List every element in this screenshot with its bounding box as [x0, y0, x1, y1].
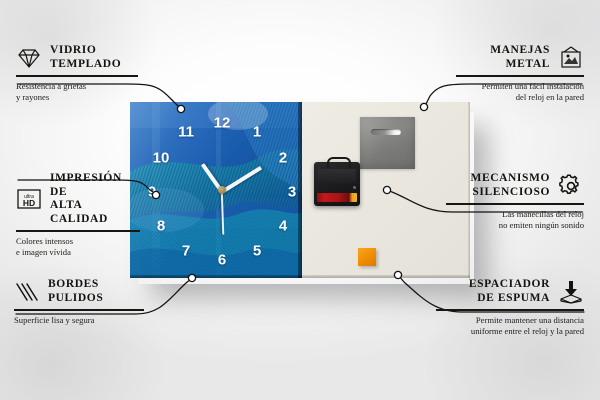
- clock-numeral-11: 11: [178, 125, 194, 140]
- callout-rule: [446, 203, 584, 204]
- clock-numeral-4: 4: [279, 219, 287, 234]
- clock-bottom-edge: [130, 275, 302, 278]
- callout-sub-line2: y rayones: [16, 92, 138, 103]
- clock-numeral-5: 5: [253, 244, 261, 259]
- movement-screw-dot: [353, 186, 356, 189]
- callout-title-line2: METAL: [490, 58, 550, 72]
- callout-mecanismo-silencioso[interactable]: MECANISMO SILENCIOSO Las manecillas del …: [446, 172, 584, 231]
- callout-sub-line2: e imagen vívida: [16, 247, 140, 258]
- diamond-icon: [16, 46, 42, 70]
- svg-text:HD: HD: [23, 198, 35, 208]
- quartz-movement-box: [314, 162, 360, 206]
- callout-rule: [16, 230, 140, 231]
- clock-numeral-1: 1: [253, 125, 261, 140]
- callout-title-line1: MECANISMO: [470, 172, 550, 186]
- callout-title-line2: TEMPLADO: [50, 58, 121, 72]
- callout-title-line1: VIDRIO: [50, 44, 121, 58]
- callout-impresion-alta-calidad[interactable]: ultra HD IMPRESIÓN DE ALTA CALIDAD Color…: [16, 172, 140, 258]
- callout-header: VIDRIO TEMPLADO: [16, 44, 138, 71]
- clock-numeral-10: 10: [153, 151, 170, 166]
- callout-title-line1: MANEJAS: [490, 44, 550, 58]
- callout-bordes-pulidos[interactable]: BORDES PULIDOS Superficie lisa y segura: [14, 278, 144, 326]
- callout-rule: [16, 75, 138, 76]
- callout-sub-line1: Permiten una fácil instalación: [456, 81, 584, 92]
- clock-front-face: 12 1 2 3 4 5 6 7 8 9 10 11: [130, 102, 302, 278]
- callout-rule: [436, 309, 584, 310]
- callout-sub-line2: uniforme entre el reloj y la pared: [436, 326, 584, 337]
- clock-numeral-9: 9: [148, 185, 156, 200]
- callout-title-line2: DE ESPUMA: [469, 292, 550, 306]
- callout-manejas-metal[interactable]: MANEJAS METAL Permiten una fácil instala…: [456, 44, 584, 103]
- callout-title-line1: ESPACIADOR: [469, 278, 550, 292]
- callout-title-line2: SILENCIOSO: [470, 186, 550, 200]
- callout-header: MANEJAS METAL: [456, 44, 584, 71]
- wall-mount-frame-icon: [558, 46, 584, 70]
- clock-numeral-8: 8: [157, 219, 165, 234]
- metal-hanger-plate: [360, 117, 415, 169]
- movement-hanging-loop: [327, 157, 351, 168]
- callout-header: BORDES PULIDOS: [14, 278, 144, 305]
- callout-sub-line1: Superficie lisa y segura: [14, 315, 144, 326]
- clock-back-panel: [302, 102, 470, 278]
- callout-sub-line2: no emiten ningún sonido: [446, 220, 584, 231]
- clock-numeral-3: 3: [288, 185, 296, 200]
- product-composite: 12 1 2 3 4 5 6 7 8 9 10 11: [130, 102, 470, 278]
- callout-rule: [14, 309, 144, 310]
- foam-spacer-square: [358, 248, 376, 266]
- gear-icon: [558, 174, 584, 198]
- callout-espaciador-de-espuma[interactable]: ESPACIADOR DE ESPUMA Permite mantener un…: [436, 278, 584, 337]
- callout-sub-line1: Resistencia a grietas: [16, 81, 138, 92]
- movement-battery-strip: [317, 193, 357, 202]
- callout-rule: [456, 75, 584, 76]
- clock-numeral-2: 2: [279, 151, 287, 166]
- ultra-hd-icon: ultra HD: [16, 187, 42, 211]
- infographic-canvas: 12 1 2 3 4 5 6 7 8 9 10 11: [0, 0, 600, 400]
- callout-sub-line1: Permite mantener una distancia: [436, 315, 584, 326]
- polished-edges-icon: [14, 280, 40, 304]
- callout-title-line2: ALTA CALIDAD: [50, 199, 140, 226]
- callout-title-line1: IMPRESIÓN DE: [50, 172, 140, 199]
- hanger-sheen: [360, 117, 415, 169]
- foam-spacer-arrow-icon: [558, 280, 584, 304]
- clock-numeral-7: 7: [182, 244, 190, 259]
- callout-sub-line2: del reloj en la pared: [456, 92, 584, 103]
- callout-header: ESPACIADOR DE ESPUMA: [436, 278, 584, 305]
- callout-sub-line1: Las manecillas del reloj: [446, 209, 584, 220]
- callout-title-line1: BORDES: [48, 278, 103, 292]
- callout-vidrio-templado[interactable]: VIDRIO TEMPLADO Resistencia a grietas y …: [16, 44, 138, 103]
- callout-header: MECANISMO SILENCIOSO: [446, 172, 584, 199]
- movement-body-panel: [318, 169, 356, 183]
- callout-title-line2: PULIDOS: [48, 292, 103, 306]
- callout-header: ultra HD IMPRESIÓN DE ALTA CALIDAD: [16, 172, 140, 226]
- clock-center-cap: [218, 186, 226, 194]
- clock-numeral-12: 12: [214, 116, 231, 131]
- callout-sub-line1: Colores intensos: [16, 236, 140, 247]
- clock-numeral-6: 6: [218, 253, 226, 268]
